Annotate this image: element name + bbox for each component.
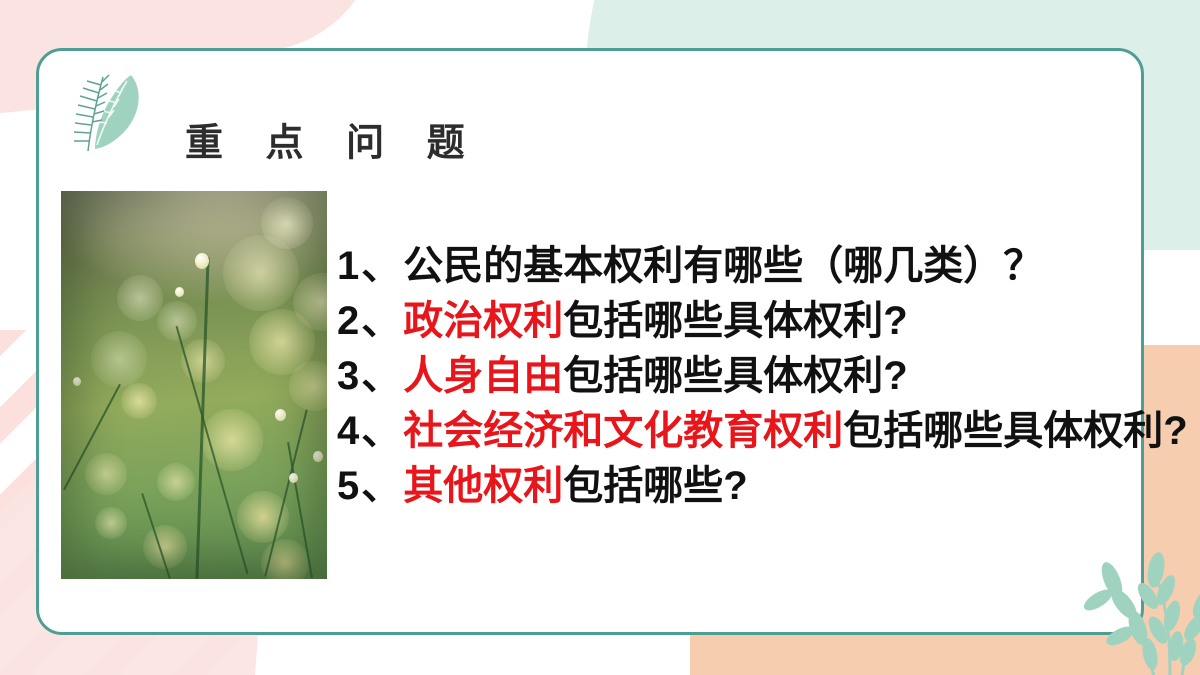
question-list: 1、公民的基本权利有哪些（哪几类）？ 2、政治权利包括哪些具体权利? 3、人身自… — [337, 239, 1137, 514]
question-line: 5、其他权利包括哪些? — [337, 459, 1137, 514]
question-line: 2、政治权利包括哪些具体权利? — [337, 294, 1137, 349]
slide-canvas: 重 点 问 题 — [0, 0, 1200, 675]
question-number: 3、 — [337, 354, 403, 398]
question-number: 2、 — [337, 299, 403, 343]
branch-sprig-icon — [1058, 512, 1200, 675]
question-number: 5、 — [337, 464, 403, 508]
question-highlight: 其他权利 — [403, 464, 563, 508]
card-header: 重 点 问 题 — [39, 51, 1141, 169]
question-text: 包括哪些具体权利? — [563, 299, 907, 343]
content-card: 重 点 问 题 — [36, 48, 1144, 635]
question-text: 包括哪些具体权利? — [843, 409, 1187, 453]
question-line: 1、公民的基本权利有哪些（哪几类）？ — [337, 239, 1137, 294]
question-text: 包括哪些具体权利? — [563, 354, 907, 398]
question-highlight: 社会经济和文化教育权利 — [403, 409, 843, 453]
question-text: 包括哪些? — [563, 464, 747, 508]
grass-dew-photo — [61, 191, 327, 579]
question-text: 公民的基本权利有哪些（哪几类）？ — [403, 244, 1043, 288]
question-number: 4、 — [337, 409, 403, 453]
page-title: 重 点 问 题 — [185, 112, 481, 167]
leaf-icon — [57, 65, 157, 161]
question-highlight: 政治权利 — [403, 299, 563, 343]
question-highlight: 人身自由 — [403, 354, 563, 398]
question-line: 4、社会经济和文化教育权利包括哪些具体权利? — [337, 404, 1137, 459]
question-number: 1、 — [337, 244, 403, 288]
photo-vignette — [61, 191, 327, 579]
question-line: 3、人身自由包括哪些具体权利? — [337, 349, 1137, 404]
